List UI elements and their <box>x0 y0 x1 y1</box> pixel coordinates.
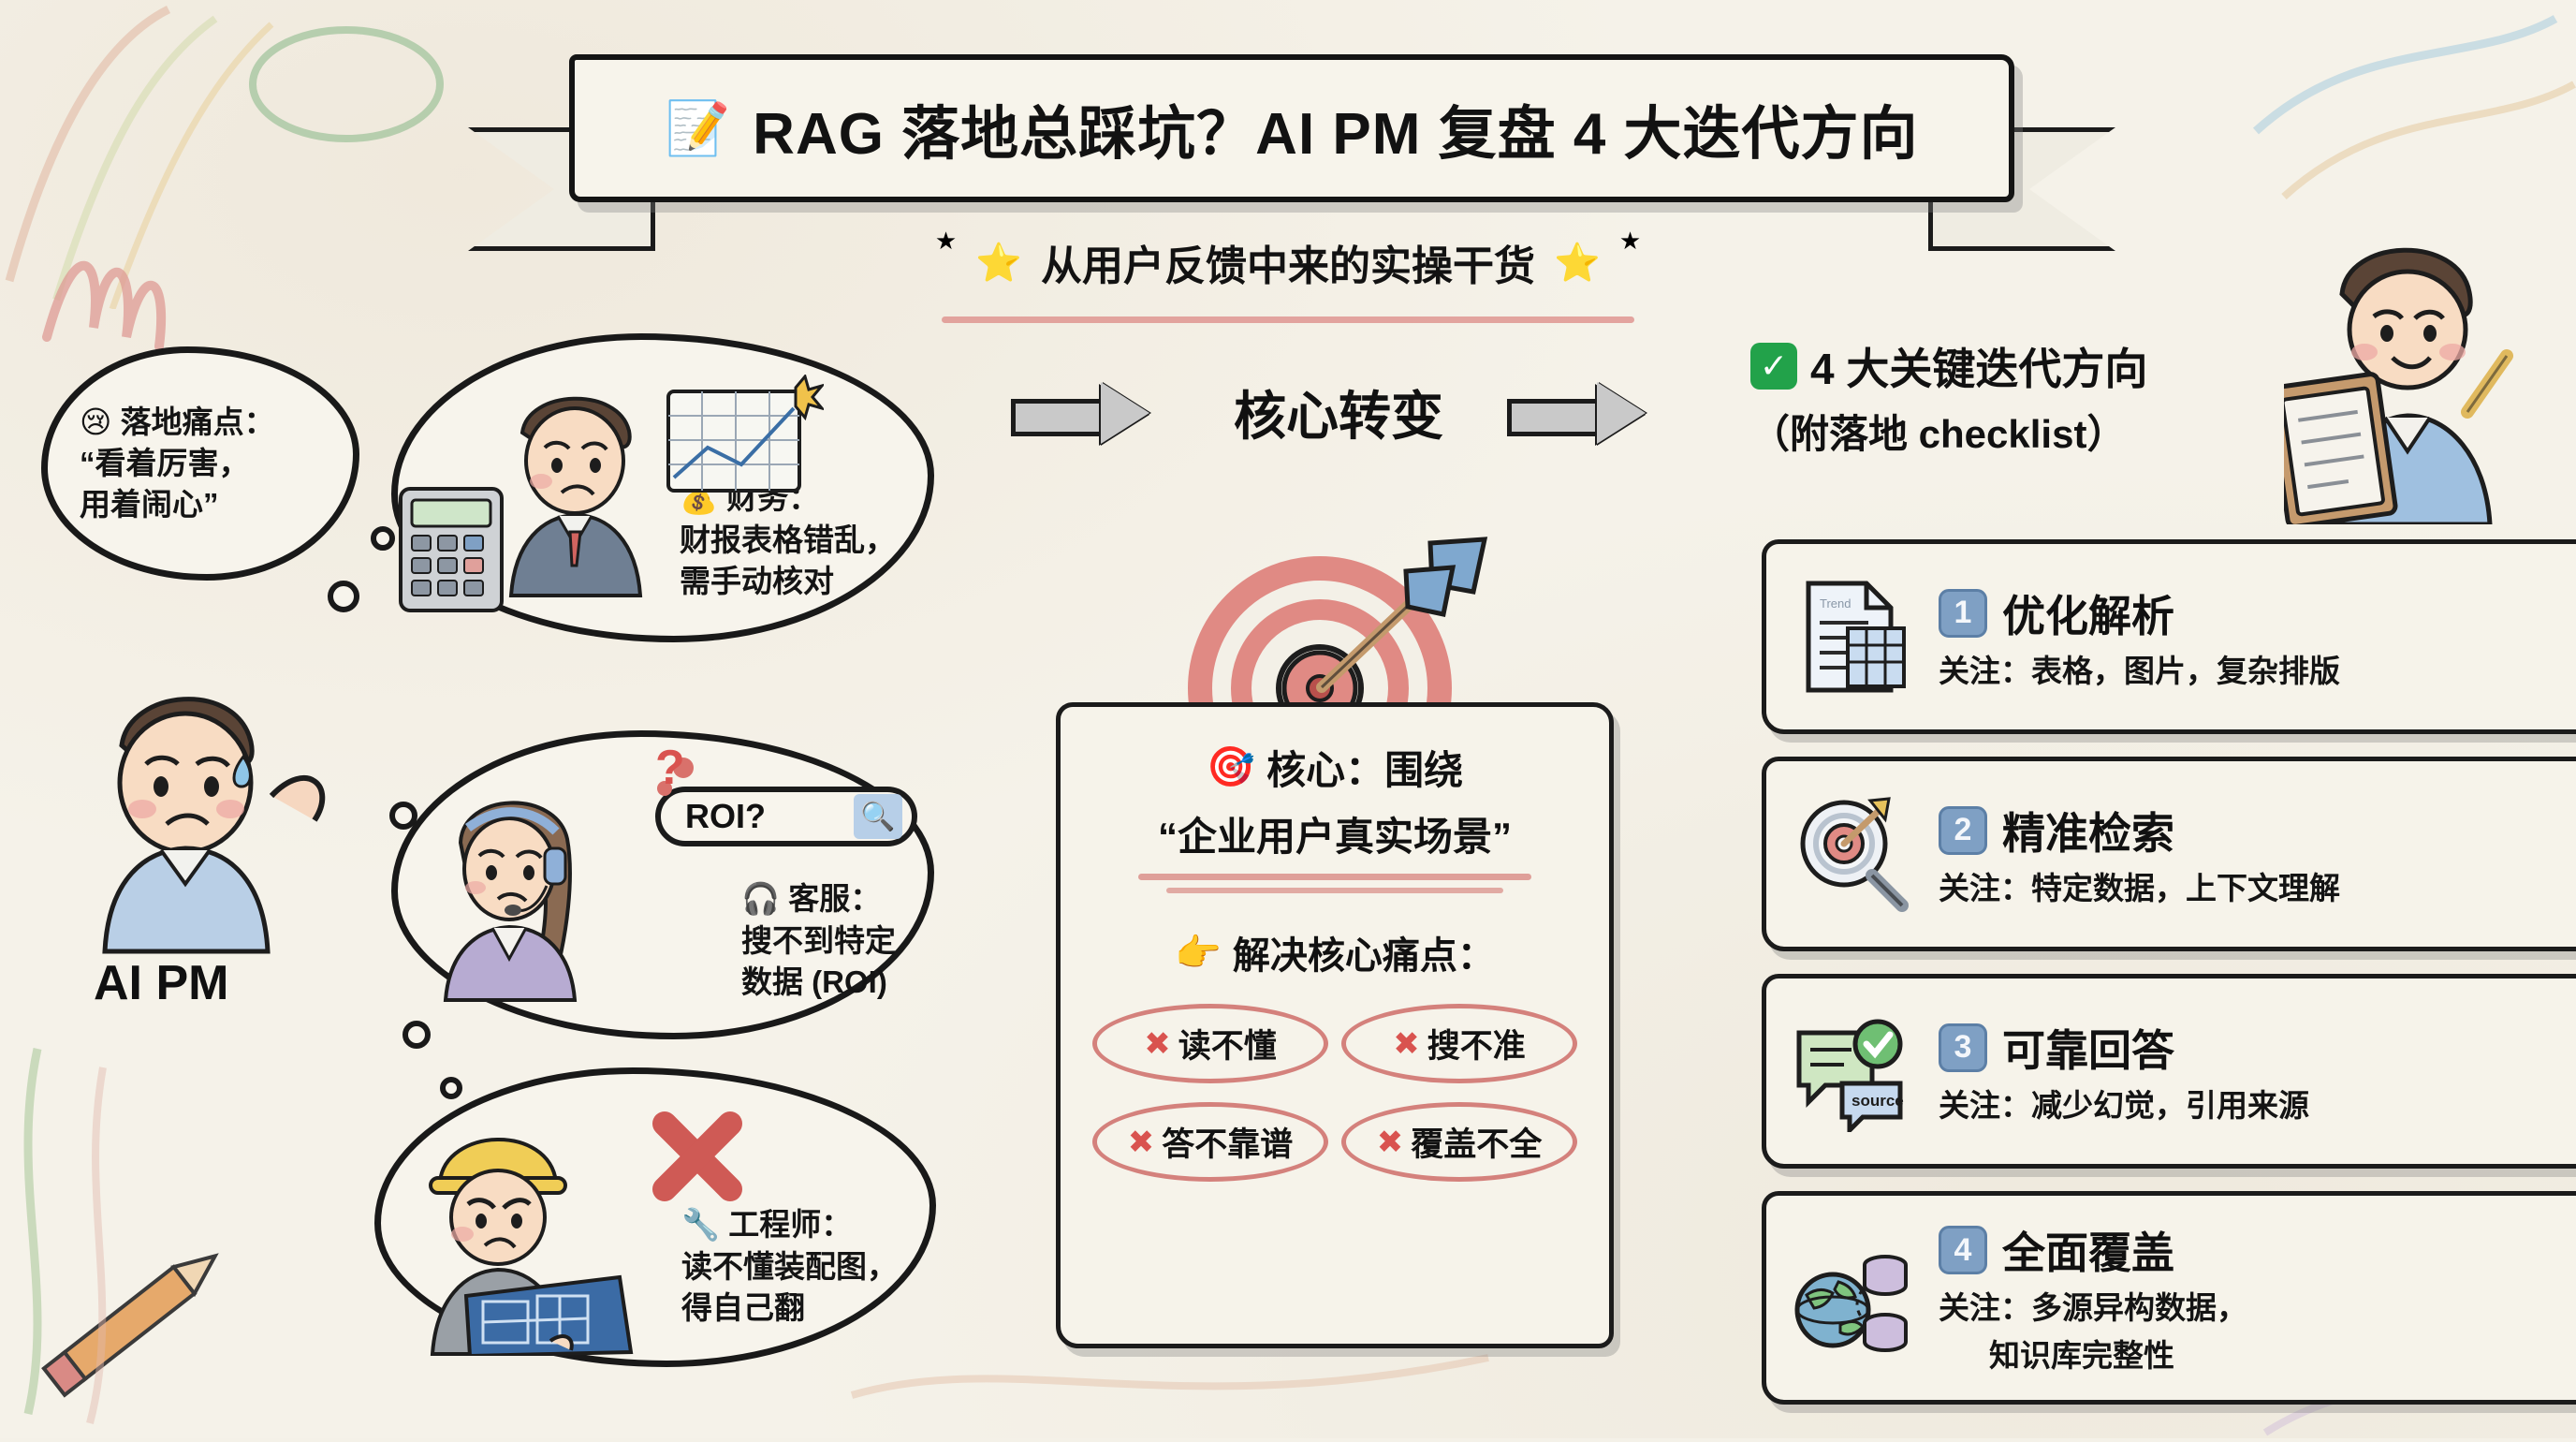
dartboard-icon: 🎯 <box>1207 744 1255 790</box>
direction-card-1: Trend 1 优化解析 关注：表格，图片，复杂排版 <box>1762 539 2576 734</box>
direction-card-4-note-line-2: 知识库完整性 <box>1939 1336 2247 1376</box>
direction-card-2: 2 精准检索 关注：特定数据，上下文理解 <box>1762 757 2576 951</box>
pain-pill-label: 读不懂 <box>1178 1020 1277 1067</box>
direction-card-4: 4 全面覆盖 关注：多源异构数据， 知识库完整性 <box>1762 1191 2576 1405</box>
number-badge: 4 <box>1939 1226 1987 1274</box>
core-underline <box>1138 874 1531 880</box>
core-line-2: “企业用户真实场景” <box>1158 805 1512 862</box>
pain-pill-label: 覆盖不全 <box>1411 1118 1542 1166</box>
page-subtitle: 从用户反馈中来的实操干货 <box>1041 232 1535 292</box>
subtitle-underline <box>942 316 1634 323</box>
direction-card-2-title-row: 2 精准检索 <box>1939 800 2340 861</box>
arrow-right-icon-right <box>1507 384 1666 442</box>
direction-card-4-note-line-1: 关注：多源异构数据， <box>1939 1288 2247 1329</box>
pain-pill-label: 答不靠谱 <box>1162 1118 1293 1166</box>
page-title: RAG 落地总踩坑？AI PM 复盘 4 大迭代方向 <box>753 86 1918 170</box>
direction-card-3-title: 可靠回答 <box>2002 1017 2174 1079</box>
solve-pain-points-label: 👉 解决核心痛点： <box>1175 925 1495 979</box>
pain-pill: ✖ 覆盖不全 <box>1341 1102 1577 1182</box>
headphone-icon: 🎧 <box>741 881 780 916</box>
thought-dot <box>440 1077 462 1099</box>
chat-source-icon: source <box>1791 1009 1914 1133</box>
svg-text:Trend: Trend <box>1820 596 1851 611</box>
direction-card-4-body: 4 全面覆盖 关注：多源异构数据， 知识库完整性 <box>1939 1219 2247 1376</box>
doodle-bottom-left-swirl <box>0 1011 281 1442</box>
question-mark-icon: ? <box>655 740 685 796</box>
search-icon[interactable]: 🔍 <box>854 794 902 839</box>
core-underline-secondary <box>1166 888 1503 893</box>
core-shift-row: 核心转变 <box>1011 375 1666 450</box>
pain-pill-label: 搜不准 <box>1427 1020 1526 1067</box>
target-magnifier-icon <box>1791 792 1914 916</box>
subtitle-row: ★ ⭐ 从用户反馈中来的实操干货 ⭐ ★ <box>0 232 2576 292</box>
thought-dot <box>402 1021 431 1049</box>
core-shift-label: 核心转变 <box>1234 375 1443 450</box>
calculator-icon <box>391 479 513 620</box>
x-mark-icon: ✖ <box>1128 1124 1155 1161</box>
pain-points-grid: ✖ 读不懂 ✖ 搜不准 ✖ 答不靠谱 ✖ 覆盖不全 <box>1092 1004 1577 1182</box>
direction-card-3-body: 3 可靠回答 关注：减少幻觉，引用来源 <box>1939 1017 2309 1126</box>
green-check-icon: ✓ <box>1750 343 1797 390</box>
document-table-icon: Trend <box>1791 575 1914 699</box>
clipboard-person-illustration <box>2284 215 2565 524</box>
wrench-icon: 🔧 <box>681 1207 720 1242</box>
red-x-icon <box>646 1105 749 1208</box>
star-icon-left: ⭐ <box>975 241 1022 285</box>
x-mark-icon: ✖ <box>1144 1025 1171 1063</box>
number-badge: 1 <box>1939 589 1987 638</box>
number-badge: 3 <box>1939 1023 1987 1072</box>
memo-pencil-icon: 📝 <box>665 102 730 154</box>
aipm-label: AI PM <box>94 955 228 1011</box>
pain-pill: ✖ 读不懂 <box>1092 1004 1328 1083</box>
direction-card-3-note: 关注：减少幻觉，引用来源 <box>1939 1086 2309 1126</box>
number-badge: 2 <box>1939 806 1987 855</box>
pointing-hand-icon: 👉 <box>1175 931 1222 975</box>
doodle-pencil <box>19 1208 262 1423</box>
direction-card-1-title-row: 1 优化解析 <box>1939 582 2340 644</box>
thought-dot <box>328 581 359 612</box>
direction-card-3: source 3 可靠回答 关注：减少幻觉，引用来源 <box>1762 974 2576 1169</box>
direction-card-3-title-row: 3 可靠回答 <box>1939 1017 2309 1079</box>
banner-body: 📝 RAG 落地总踩坑？AI PM 复盘 4 大迭代方向 <box>569 54 2014 202</box>
direction-card-1-note: 关注：表格，图片，复杂排版 <box>1939 652 2340 692</box>
aipm-character <box>56 655 365 964</box>
title-banner: 📝 RAG 落地总踩坑？AI PM 复盘 4 大迭代方向 <box>468 54 2115 242</box>
core-line-1: 🎯 核心：围绕 <box>1207 739 1463 796</box>
arrow-right-icon-left <box>1011 384 1170 442</box>
x-mark-icon: ✖ <box>1377 1124 1404 1161</box>
star-icon-small-left: ★ <box>935 227 957 256</box>
star-icon-right: ⭐ <box>1554 241 1601 285</box>
bubble-pain-point-text: 😢 落地痛点： “看着厉害， 用着闹心” <box>80 402 275 526</box>
bubble-customer-service-text: 🎧 客服： 搜不到特定 数据 (ROI) <box>741 878 896 1003</box>
star-icon-small-right: ★ <box>1619 227 1641 256</box>
direction-card-1-title: 优化解析 <box>2002 582 2174 644</box>
direction-card-1-body: 1 优化解析 关注：表格，图片，复杂排版 <box>1939 582 2340 692</box>
engineer-illustration <box>410 1103 644 1356</box>
core-transformation-card: 🎯 核心：围绕 “企业用户真实场景” 👉 解决核心痛点： ✖ 读不懂 ✖ 搜不准… <box>1056 702 1614 1348</box>
doodle-circle-green <box>234 19 449 159</box>
bubble-pain-point: 😢 落地痛点： “看着厉害， 用着闹心” <box>41 346 359 581</box>
pain-pill: ✖ 搜不准 <box>1341 1004 1577 1083</box>
support-agent-illustration <box>419 768 616 1002</box>
direction-card-4-title-row: 4 全面覆盖 <box>1939 1219 2247 1281</box>
search-input[interactable]: ROI? <box>685 797 854 836</box>
direction-card-2-title: 精准检索 <box>2002 800 2174 861</box>
infographic-canvas: 📝 RAG 落地总踩坑？AI PM 复盘 4 大迭代方向 ★ ⭐ 从用户反馈中来… <box>0 0 2576 1438</box>
direction-card-2-note: 关注：特定数据，上下文理解 <box>1939 869 2340 909</box>
crying-face-icon: 😢 <box>80 405 111 439</box>
spreadsheet-chart-icon <box>655 375 824 515</box>
globe-database-icon <box>1791 1236 1914 1360</box>
svg-text:source: source <box>1851 1092 1904 1110</box>
x-mark-icon: ✖ <box>1393 1025 1420 1063</box>
bubble-engineer-text: 🔧 工程师： 读不懂装配图， 得自己翻 <box>681 1204 898 1329</box>
direction-card-2-body: 2 精准检索 关注：特定数据，上下文理解 <box>1939 800 2340 909</box>
pain-pill: ✖ 答不靠谱 <box>1092 1102 1328 1182</box>
direction-card-4-title: 全面覆盖 <box>2002 1219 2174 1281</box>
